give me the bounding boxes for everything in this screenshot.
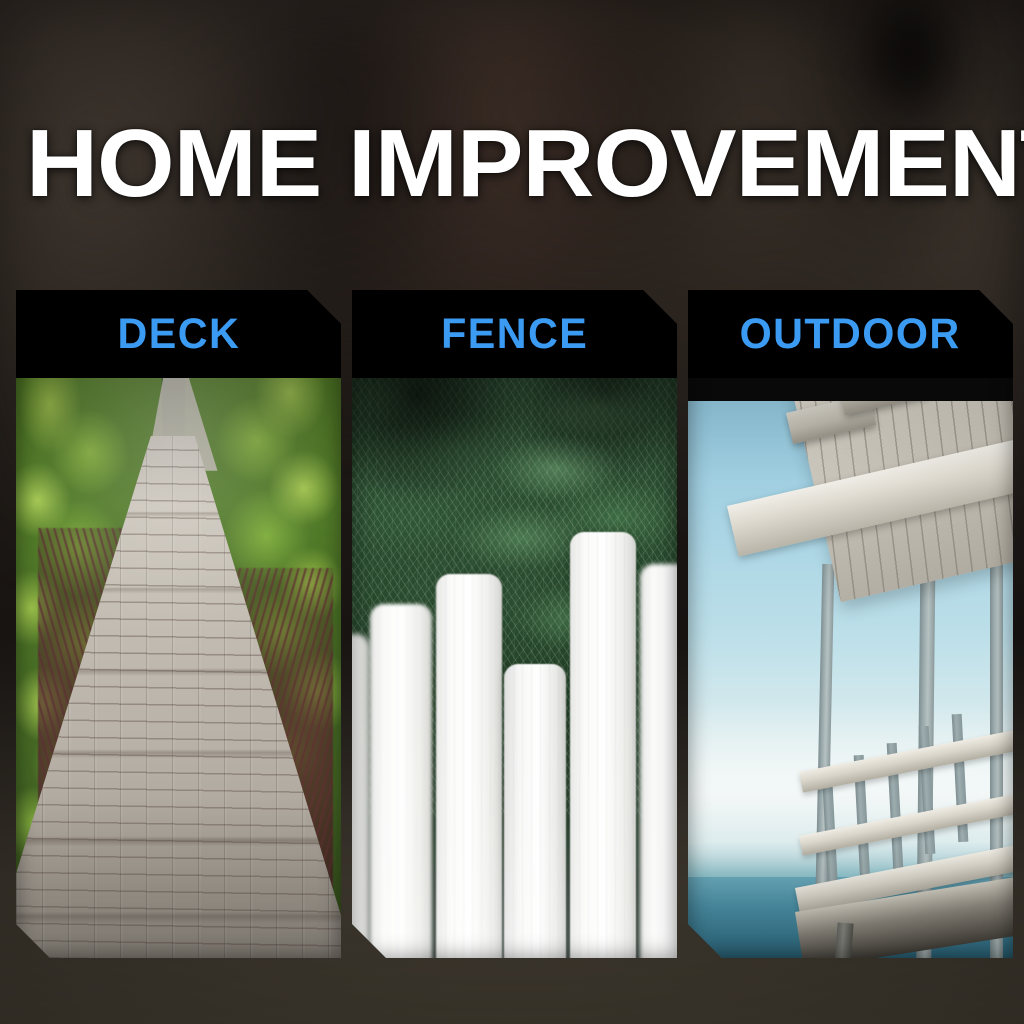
category-card-deck[interactable]: DECK	[16, 290, 341, 958]
fence-light-glow	[352, 378, 677, 958]
deck-shading	[16, 378, 341, 958]
card-header-outdoor: OUTDOOR	[688, 290, 1013, 378]
outdoor-shading	[688, 378, 1013, 958]
card-header-fence: FENCE	[352, 290, 677, 378]
card-image-outdoor	[688, 378, 1013, 958]
category-card-fence[interactable]: FENCE	[352, 290, 677, 958]
category-card-list: DECK FENCE	[0, 0, 1024, 1024]
promo-banner: HOME IMPROVEMENT DECK FENCE	[0, 0, 1024, 1024]
card-image-deck	[16, 378, 341, 958]
card-label-deck: DECK	[117, 313, 240, 356]
category-card-outdoor[interactable]: OUTDOOR	[688, 290, 1013, 958]
card-label-fence: FENCE	[441, 313, 588, 356]
card-label-outdoor: OUTDOOR	[740, 313, 961, 356]
card-header-deck: DECK	[16, 290, 341, 378]
card-image-fence	[352, 378, 677, 958]
